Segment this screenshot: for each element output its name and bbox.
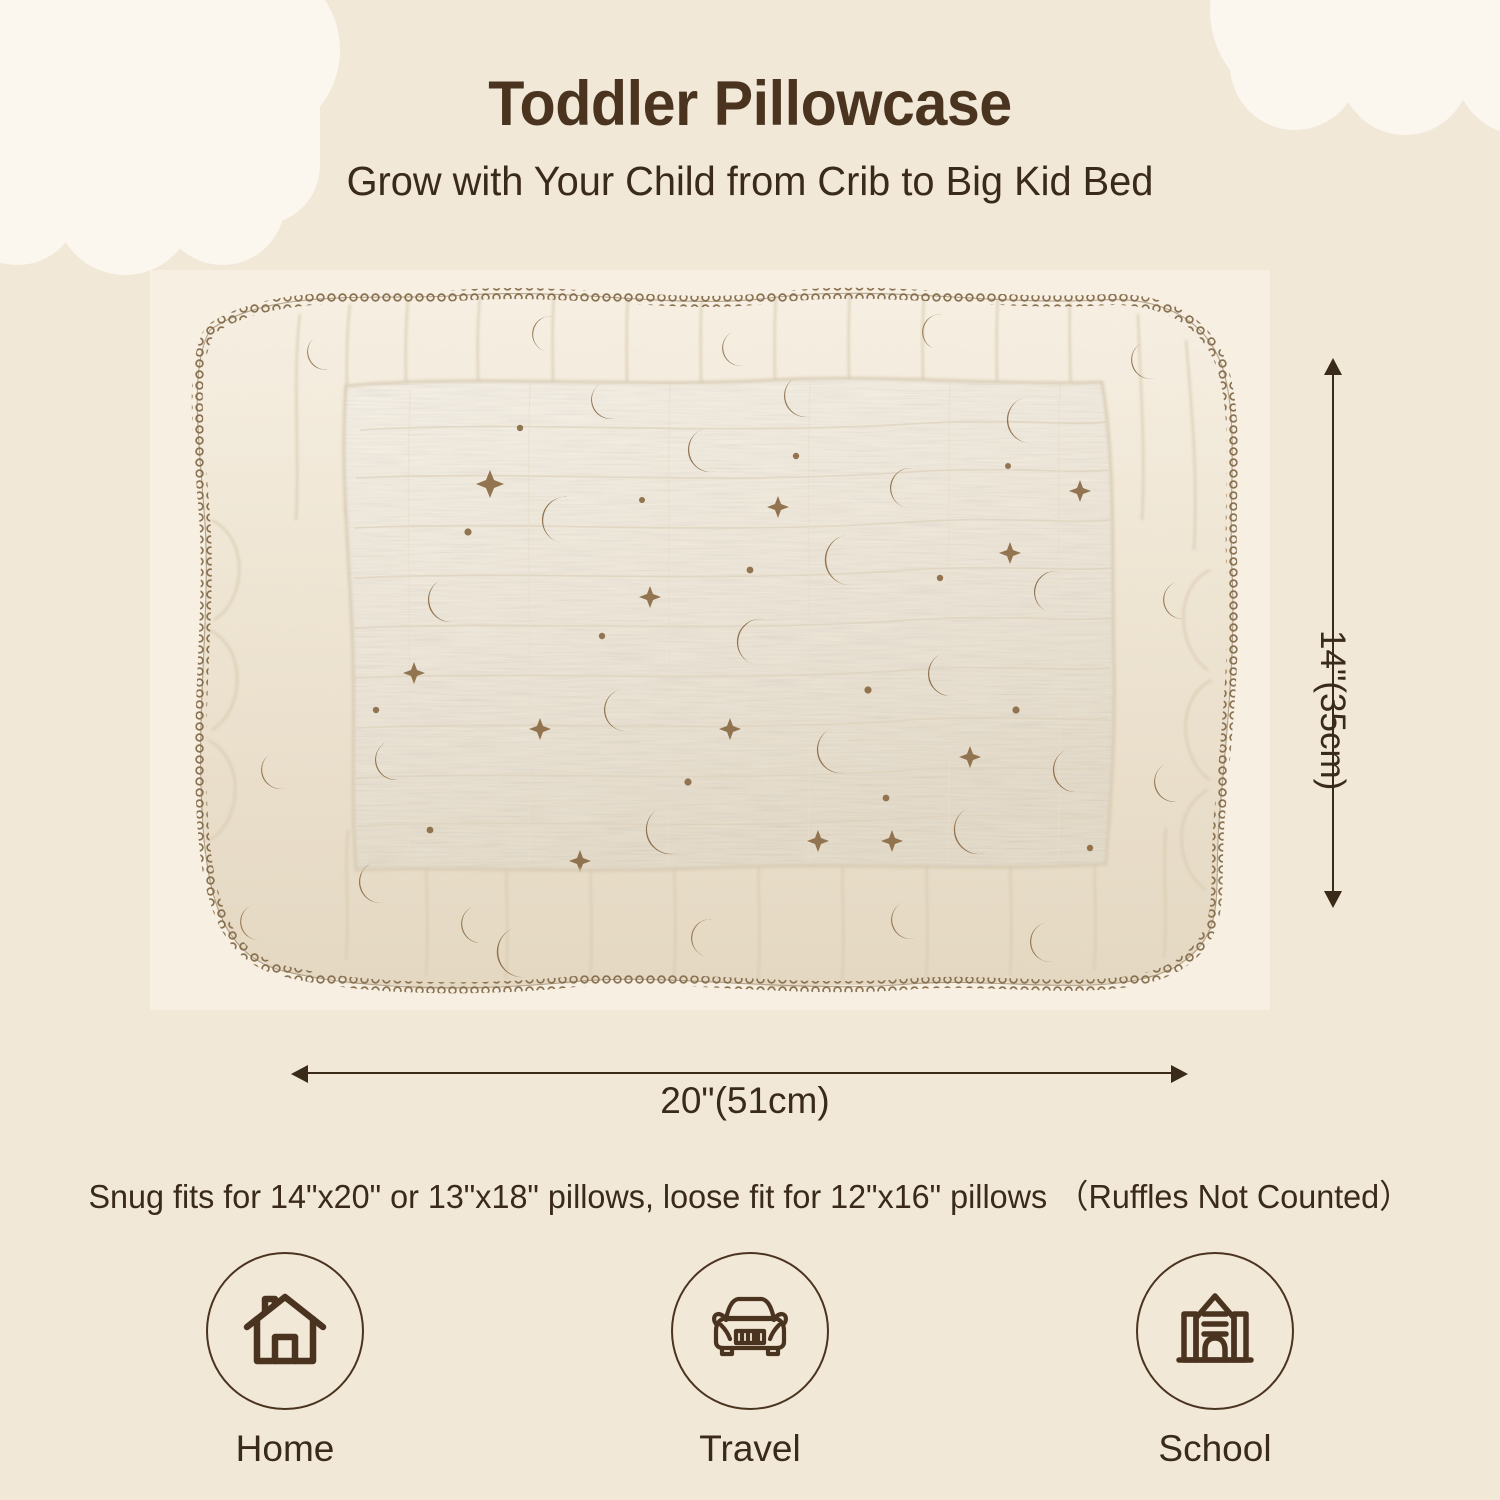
usecase-school-label: School	[1050, 1428, 1380, 1470]
usecase-home-circle	[206, 1252, 364, 1410]
usecase-home: Home	[120, 1252, 450, 1470]
usecase-row: Home	[120, 1252, 1380, 1470]
car-icon	[700, 1279, 800, 1384]
usecase-travel-circle	[671, 1252, 829, 1410]
width-dimension-line	[305, 1072, 1183, 1074]
usecase-travel: Travel	[585, 1252, 915, 1470]
product-photo	[150, 270, 1270, 1010]
house-icon	[237, 1281, 333, 1382]
usecase-school-circle	[1136, 1252, 1294, 1410]
fit-note: Snug fits for 14"x20" or 13"x18" pillows…	[15, 1170, 1485, 1218]
usecase-travel-label: Travel	[585, 1428, 915, 1470]
width-dimension-label: 20"(51cm)	[0, 1080, 1490, 1122]
usecase-school: School	[1050, 1252, 1380, 1470]
height-arrow-up-icon	[1324, 358, 1342, 375]
usecase-home-label: Home	[120, 1428, 450, 1470]
school-icon	[1166, 1280, 1264, 1383]
page-subtitle: Grow with Your Child from Crib to Big Ki…	[23, 158, 1478, 205]
height-dimension-label: 14"(35cm)	[1312, 630, 1352, 790]
product-infographic: Toddler Pillowcase Grow with Your Child …	[0, 0, 1500, 1500]
height-arrow-down-icon	[1324, 891, 1342, 908]
page-title: Toddler Pillowcase	[45, 68, 1455, 140]
